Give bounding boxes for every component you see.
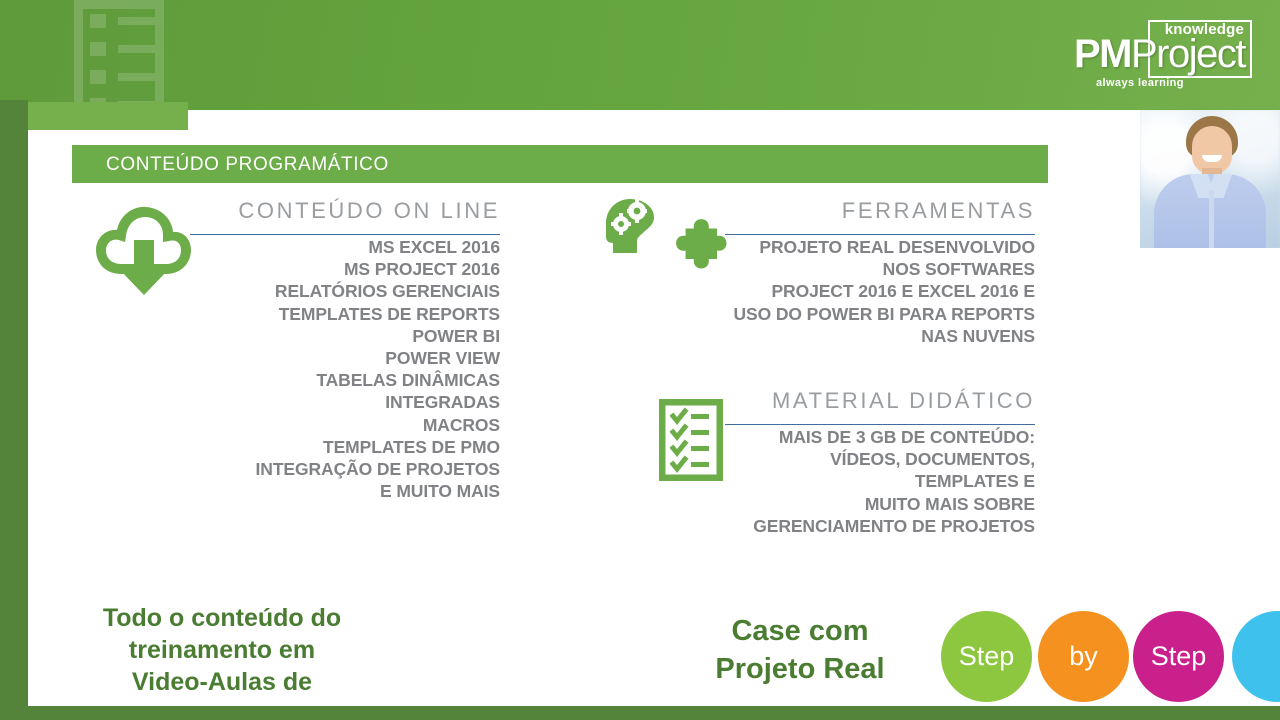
step-circle-label: by <box>1069 641 1098 672</box>
list-item: MS EXCEL 2016 <box>150 236 500 258</box>
list-item: GERENCIAMENTO DE PROJETOS <box>685 515 1035 537</box>
logo-tagline: always learning <box>1096 78 1184 89</box>
step-circle-label: Step <box>959 641 1015 672</box>
accent-square <box>28 102 188 130</box>
list-item: RELATÓRIOS GERENCIAIS <box>150 280 500 302</box>
list-item: TEMPLATES E <box>685 470 1035 492</box>
page-title: CONTEÚDO PROGRAMÁTICO <box>106 154 389 176</box>
top-banner: knowledge PMProject always learning <box>0 0 1280 110</box>
case-line: Case com <box>680 612 920 650</box>
heading-conteudo-on-line: CONTEÚDO ON LINE <box>200 198 500 224</box>
list-item: PROJETO REAL DESENVOLVIDO <box>685 236 1035 258</box>
slide: knowledge PMProject always learning CONT… <box>0 0 1280 720</box>
rule-material-didatico <box>725 424 1035 425</box>
logo-brand-pm: PM <box>1074 32 1131 76</box>
rule-conteudo-on-line <box>190 234 500 235</box>
list-item: MACROS <box>150 414 500 436</box>
step-circle-1: Step <box>941 611 1032 702</box>
footer-left-line: Todo o conteúdo do <box>62 602 382 634</box>
rule-ferramentas <box>725 234 1035 235</box>
list-ferramentas: PROJETO REAL DESENVOLVIDO NOS SOFTWARES … <box>685 236 1035 347</box>
footer-left-line: treinamento em <box>62 634 382 666</box>
list-item: NOS SOFTWARES <box>685 258 1035 280</box>
frame-left-border <box>0 100 28 720</box>
head-gears-icon <box>603 197 663 255</box>
list-item: MUITO MAIS SOBRE <box>685 493 1035 515</box>
step-circle-3: Step <box>1133 611 1224 702</box>
list-item: POWER BI <box>150 325 500 347</box>
frame-bottom-border <box>0 706 1280 720</box>
list-item: POWER VIEW <box>150 347 500 369</box>
checklist-watermark-icon <box>66 0 172 118</box>
list-item: TEMPLATES DE REPORTS <box>150 303 500 325</box>
pmproject-logo: knowledge PMProject always learning <box>1074 20 1252 84</box>
list-item: MS PROJECT 2016 <box>150 258 500 280</box>
list-item: TABELAS DINÂMICAS <box>150 369 500 391</box>
logo-brand: PMProject <box>1074 34 1245 74</box>
case-text: Case com Projeto Real <box>680 612 920 688</box>
list-item: USO DO POWER BI PARA REPORTS <box>685 303 1035 325</box>
heading-ferramentas: FERRAMENTAS <box>735 198 1035 224</box>
list-item: E MUITO MAIS <box>150 480 500 502</box>
footer-left-text: Todo o conteúdo do treinamento em Video-… <box>62 602 382 698</box>
list-item: VÍDEOS, DOCUMENTOS, <box>685 448 1035 470</box>
instructor-photo <box>1140 110 1280 248</box>
list-material-didatico: MAIS DE 3 GB DE CONTEÚDO: VÍDEOS, DOCUME… <box>685 426 1035 537</box>
list-item: TEMPLATES DE PMO <box>150 436 500 458</box>
logo-brand-project: Project <box>1131 32 1245 76</box>
list-item: INTEGRAÇÃO DE PROJETOS <box>150 458 500 480</box>
heading-material-didatico: MATERIAL DIDÁTICO <box>735 388 1035 414</box>
case-line: Projeto Real <box>680 650 920 688</box>
step-circle-4 <box>1232 611 1280 702</box>
list-item: NAS NUVENS <box>685 325 1035 347</box>
section-title-bar: CONTEÚDO PROGRAMÁTICO <box>72 145 1048 183</box>
step-circle-label: Step <box>1151 641 1207 672</box>
step-circle-2: by <box>1038 611 1129 702</box>
list-item: MAIS DE 3 GB DE CONTEÚDO: <box>685 426 1035 448</box>
footer-left-line: Video-Aulas de <box>62 666 382 698</box>
list-conteudo-on-line: MS EXCEL 2016 MS PROJECT 2016 RELATÓRIOS… <box>150 236 500 502</box>
list-item: INTEGRADAS <box>150 391 500 413</box>
list-item: PROJECT 2016 E EXCEL 2016 E <box>685 280 1035 302</box>
